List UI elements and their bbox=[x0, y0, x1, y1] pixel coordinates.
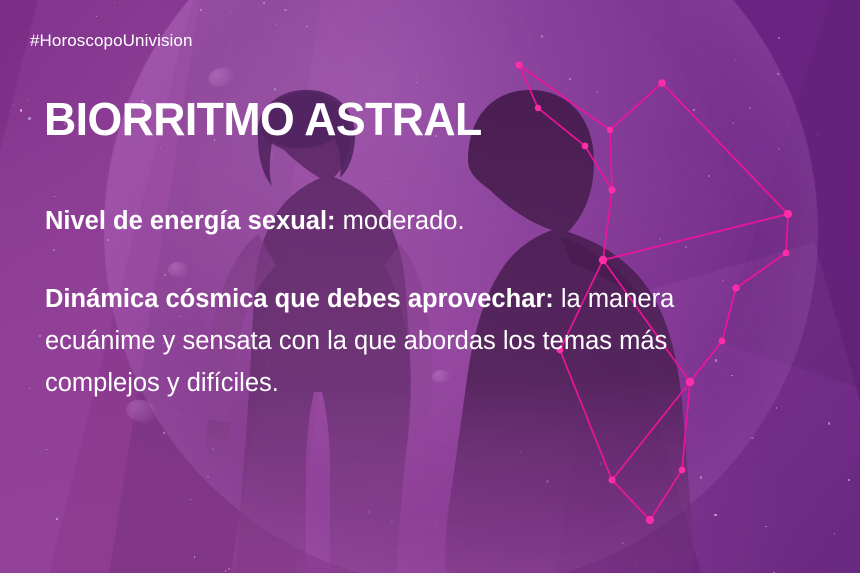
energy-label: Nivel de energía sexual: bbox=[45, 207, 336, 235]
hashtag-label: #HoroscopoUnivision bbox=[30, 31, 193, 51]
body-text: Nivel de energía sexual: moderado. Dinám… bbox=[45, 200, 785, 404]
horoscope-card: #HoroscopoUnivision BIORRITMO ASTRAL Niv… bbox=[0, 0, 860, 573]
dynamic-line: Dinámica cósmica que debes aprovechar: l… bbox=[45, 278, 785, 404]
dynamic-label: Dinámica cósmica que debes aprovechar: bbox=[45, 285, 554, 313]
page-title: BIORRITMO ASTRAL bbox=[44, 96, 482, 142]
paragraph-gap bbox=[45, 242, 785, 278]
energy-line: Nivel de energía sexual: moderado. bbox=[45, 200, 785, 242]
energy-value: moderado. bbox=[336, 207, 465, 235]
